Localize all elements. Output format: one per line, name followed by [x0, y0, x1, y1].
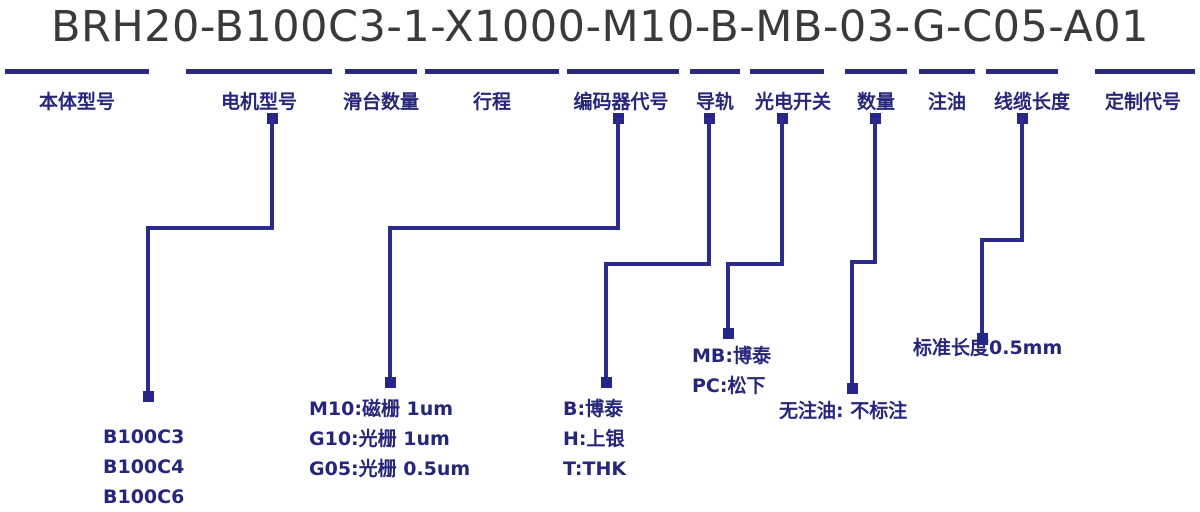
segment-underline-photo-switch: [750, 69, 824, 74]
options-photo-switch: MB:博泰 PC:松下: [692, 341, 771, 401]
options-encoder-code: M10:磁栅 1um G10:光栅 1um G05:光栅 0.5um: [309, 394, 470, 484]
option-item: B100C4: [103, 452, 184, 482]
field-label-stroke: 行程: [425, 87, 559, 114]
connector-vertical-cable-length-drop: [980, 238, 984, 338]
connector-horizontal-oiling: [850, 260, 877, 264]
connector-vertical-body-model-drop: [146, 226, 150, 396]
options-body-model: B100C3 B100C4 B100C6: [103, 422, 184, 512]
segment-underline-body-model: [5, 69, 149, 74]
field-label-photo-switch: 光电开关: [745, 87, 841, 114]
connector-horizontal-encoder-code: [388, 226, 620, 230]
connector-endpoint-encoder-code: [385, 377, 396, 388]
field-label-motor-model: 电机型号: [186, 87, 332, 114]
connector-vertical-guide-rail-drop: [604, 262, 608, 382]
connector-vertical-encoder-code-top: [616, 118, 620, 230]
option-item: G10:光栅 1um: [309, 424, 470, 454]
option-item: B100C6: [103, 482, 184, 512]
connector-horizontal-body-model: [146, 226, 274, 230]
field-label-slider-count: 滑台数量: [333, 87, 429, 114]
option-item: H:上银: [563, 424, 626, 454]
option-item: G05:光栅 0.5um: [309, 454, 470, 484]
option-item: PC:松下: [692, 371, 771, 401]
connector-horizontal-cable-length: [980, 238, 1024, 242]
segment-underline-custom-code: [1095, 69, 1195, 74]
field-label-quantity: 数量: [845, 87, 907, 114]
option-item: B100C3: [103, 422, 184, 452]
options-cable-length: 标准长度0.5mm: [913, 333, 1062, 363]
option-item: B:博泰: [563, 394, 626, 424]
connector-vertical-photo-switch-top: [780, 118, 784, 266]
segment-underline-slider-count: [345, 69, 417, 74]
connector-endpoint-body-model: [143, 391, 154, 402]
option-item: 无注油: 不标注: [779, 396, 907, 426]
segment-underline-motor-model: [186, 69, 332, 74]
segment-underline-cable-length: [986, 69, 1058, 74]
connector-endpoint-oiling: [847, 383, 858, 394]
segment-underline-guide-rail: [690, 69, 740, 74]
segment-underline-encoder-code: [567, 69, 679, 74]
connector-vertical-photo-switch-drop: [726, 262, 730, 332]
model-number-title: BRH20-B100C3-1-X1000-M10-B-MB-03-G-C05-A…: [0, 2, 1200, 52]
field-label-custom-code: 定制代号: [1090, 87, 1196, 114]
connector-horizontal-guide-rail: [604, 262, 711, 266]
options-oiling: 无注油: 不标注: [779, 396, 907, 426]
connector-vertical-encoder-code-drop: [388, 226, 392, 382]
connector-horizontal-photo-switch: [726, 262, 784, 266]
field-label-oiling: 注油: [919, 87, 975, 114]
connector-vertical-oiling-top: [873, 118, 877, 264]
field-label-encoder-code: 编码器代号: [558, 87, 684, 114]
segment-underline-oiling: [919, 69, 975, 74]
segment-underline-quantity: [845, 69, 907, 74]
segment-underline-stroke: [425, 69, 559, 74]
connector-vertical-guide-rail-top: [707, 118, 711, 266]
options-guide-rail: B:博泰 H:上银 T:THK: [563, 394, 626, 484]
option-item: MB:博泰: [692, 341, 771, 371]
option-item: 标准长度0.5mm: [913, 333, 1062, 363]
option-item: T:THK: [563, 454, 626, 484]
field-label-body-model: 本体型号: [5, 87, 149, 114]
connector-endpoint-guide-rail: [601, 377, 612, 388]
field-label-guide-rail: 导轨: [686, 87, 744, 114]
option-item: M10:磁栅 1um: [309, 394, 470, 424]
connector-endpoint-photo-switch: [723, 328, 734, 339]
field-label-cable-length: 线缆长度: [982, 87, 1082, 114]
connector-vertical-body-model-top: [270, 118, 274, 230]
connector-vertical-oiling-drop: [850, 260, 854, 388]
connector-vertical-cable-length-top: [1020, 118, 1024, 242]
